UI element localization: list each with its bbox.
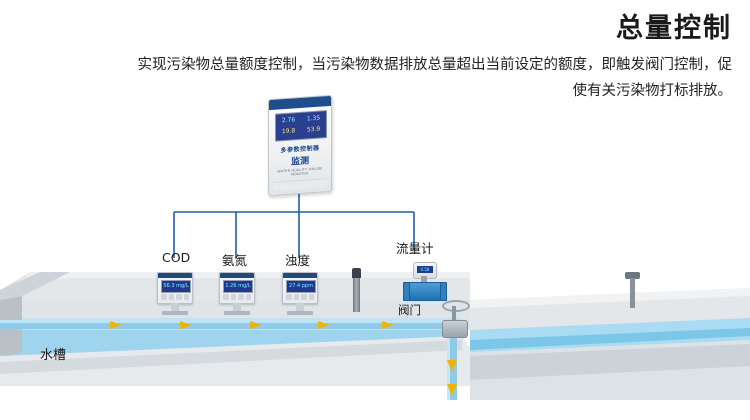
controller-value-2: 1.35: [307, 114, 320, 124]
ammonia-analyzer-display: 1.26 mg/L: [223, 280, 253, 293]
valve-body: [442, 320, 468, 338]
cod-analyzer-base: [162, 311, 188, 315]
controller-screen: 2.76 1.35 19.8 53.9: [275, 110, 327, 142]
flow-meter-flange-left: [403, 282, 410, 301]
ammonia-analyzer-header: [220, 273, 254, 278]
sensor-label-turbidity: 浊度: [285, 250, 310, 269]
valve-handwheel-icon: [442, 300, 470, 312]
flow-meter[interactable]: 0.58: [404, 262, 444, 302]
controller-value-4: 53.9: [307, 125, 320, 135]
cod-analyzer-buttons[interactable]: [161, 294, 189, 300]
sensor-label-ammonia: 氨氮: [222, 250, 247, 269]
flow-meter-display: 0.58: [417, 266, 433, 273]
turbidity-analyzer-header: [283, 273, 317, 278]
turbidity-analyzer-display: 27.4 ppm: [286, 280, 316, 293]
controller-header-bar: 多参数水质在线监测仪: [269, 96, 331, 110]
flow-meter-body: [407, 282, 443, 301]
flow-meter-flange-right: [440, 282, 447, 301]
controller-base: [273, 178, 327, 191]
cod-analyzer-header: [158, 273, 192, 278]
diagram-scene: 多参数水质在线监测仪 2.76 1.35 19.8 53.9 多参数控制器 监测…: [0, 0, 750, 420]
probe-cap: [352, 268, 361, 278]
turbidity-probe: [352, 268, 361, 312]
cod-analyzer-display: 56.3 mg/L: [161, 280, 191, 293]
ammonia-analyzer-base: [224, 311, 250, 315]
valve-label: 阀门: [398, 302, 421, 318]
control-valve[interactable]: [434, 300, 474, 346]
bank-post: [630, 278, 635, 308]
turbidity-analyzer[interactable]: 27.4 ppm: [282, 272, 318, 304]
cod-analyzer[interactable]: 56.3 mg/L: [157, 272, 193, 304]
water-quality-controller[interactable]: 多参数水质在线监测仪 2.76 1.35 19.8 53.9 多参数控制器 监测…: [268, 95, 332, 196]
sensor-label-flowmeter: 流量计: [396, 238, 434, 257]
scene-graphics: [0, 0, 750, 420]
sensor-label-cod: COD: [162, 250, 190, 265]
ammonia-analyzer[interactable]: 1.26 mg/L: [219, 272, 255, 304]
turbidity-analyzer-base: [287, 311, 313, 315]
turbidity-analyzer-buttons[interactable]: [286, 294, 314, 300]
probe-body: [353, 278, 360, 312]
controller-value-1: 2.76: [282, 115, 295, 125]
ammonia-analyzer-buttons[interactable]: [223, 294, 251, 300]
water-channel-label: 水槽: [40, 344, 66, 363]
controller-value-3: 19.8: [282, 126, 295, 136]
